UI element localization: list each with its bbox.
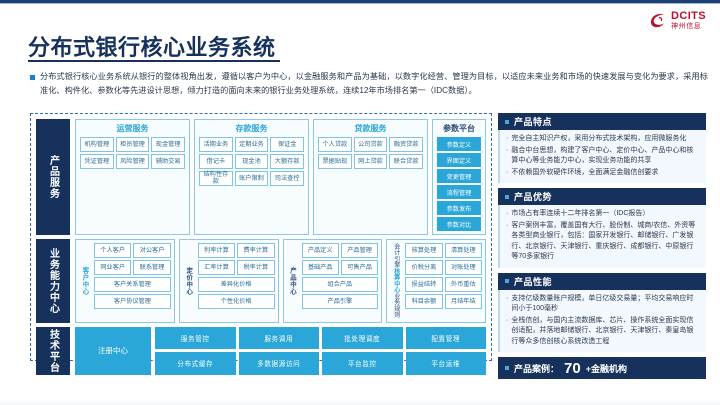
section-product-features: 产品特点 ·完全自主知识产权，采用分布式技术架构，应用微服务化 ·融合中台思想，… xyxy=(498,113,706,183)
intro-paragraph: 分布式银行核心业务系统从银行的整体视角出发，遵循以客户为中心，以金融服务和产品为… xyxy=(30,70,708,97)
service-cell[interactable]: 柜员管理 xyxy=(116,137,150,152)
tech-chip[interactable]: 批处理调度 xyxy=(322,327,403,350)
capability-center-accounting[interactable]: 会计引擎 核算中心 业务规则 核算处理 清算处理 价税分离 对账处理 损益结转 xyxy=(386,239,486,323)
capability-cell[interactable]: 个人客户 xyxy=(94,243,131,258)
param-chip[interactable]: 界面定义 xyxy=(437,153,481,167)
intro-text: 分布式银行核心业务系统从银行的整体视角出发，遵循以客户为中心，以金融服务和产品为… xyxy=(40,70,708,97)
page-title: 分布式银行核心业务系统 xyxy=(28,30,276,62)
brand-name: DCITS xyxy=(671,11,706,22)
tech-chip[interactable]: 平台运维 xyxy=(406,352,487,375)
square-bullet-icon xyxy=(30,75,35,80)
capability-cell[interactable]: 客户协议管理 xyxy=(94,294,171,309)
capability-center-label: 客户中心 xyxy=(79,243,91,319)
service-cell[interactable]: 凭证管理 xyxy=(80,154,114,169)
capability-cell[interactable]: 联系管理 xyxy=(133,260,170,275)
param-platform-column[interactable]: 参数平台 参数定义 界面定义 变更管理 流程管理 参数发布 参数对比 xyxy=(432,119,486,235)
section-header: 产品优势 xyxy=(498,188,706,205)
capability-cell[interactable]: 基础产品 xyxy=(302,260,339,275)
band-product-services: 产品服务 运营服务 机构管理 柜员管理 现金管理 凭证管理 风险管理 辅助交易 … xyxy=(36,119,486,235)
section-body: ·完全自主知识产权，采用分布式技术架构，应用微服务化 ·融合中台思想，构建了客户… xyxy=(498,130,706,183)
brand-subname: 神州信息 xyxy=(671,23,706,30)
section-title: 产品优势 xyxy=(514,190,552,203)
service-cell[interactable]: 公司贷款 xyxy=(354,137,388,152)
list-item: ·全栈信创，与国内主流数据库、芯片、操作系统全面实现信创适配，并落地邮储银行、北… xyxy=(506,316,699,348)
capability-cell[interactable]: 产品管理 xyxy=(341,243,378,258)
service-cell[interactable]: 借记卡 xyxy=(199,154,233,169)
service-cell[interactable]: 风险管理 xyxy=(116,154,150,169)
service-group-operations[interactable]: 运营服务 机构管理 柜员管理 现金管理 凭证管理 风险管理 辅助交易 xyxy=(75,119,190,235)
capability-cell[interactable]: 损益结转 xyxy=(405,277,442,292)
capability-cell[interactable]: 对公客户 xyxy=(133,243,170,258)
section-title: 产品性能 xyxy=(514,275,552,288)
param-chip[interactable]: 参数发布 xyxy=(437,201,481,215)
capability-cell[interactable]: 客户关系管理 xyxy=(94,277,171,292)
section-product-cases: 产品案例： 70 +金融机构 xyxy=(498,357,706,379)
service-cell[interactable]: 定期业务 xyxy=(235,137,269,152)
param-chip[interactable]: 流程管理 xyxy=(437,185,481,199)
service-group-deposit[interactable]: 存款服务 活期业务 定期业务 保证金 借记卡 现金池 大额存款 结构性存款 账户… xyxy=(194,119,309,235)
capability-center-label: 定价中心 xyxy=(183,243,195,319)
service-cell[interactable]: 个人贷款 xyxy=(318,137,352,152)
section-body: ·支持亿级数量账户规模，单日亿级交易量；平均交易响应时间小于100毫秒 ·全栈信… xyxy=(498,290,706,353)
capability-center-pricing[interactable]: 定价中心 利率计算 费率计算 汇率计算 税率计算 差异化价格 个性化价格 xyxy=(179,239,279,323)
square-bullet-icon xyxy=(505,195,509,199)
capability-center-product[interactable]: 产品中心 产品定义 产品管理 基础产品 可售产品 组合产品 产品引擎 xyxy=(283,239,383,323)
tech-chip[interactable]: 分布式缓存 xyxy=(155,352,236,375)
accounting-side-labels: 会计引擎 核算中心 业务规则 xyxy=(390,243,402,319)
dot-bullet-icon: · xyxy=(506,209,508,220)
capability-center-label: 核算中心 xyxy=(392,268,401,293)
band-tech-platform: 技术平台 注册中心 服务管控 服务调用 批处理调度 配置管理 分布式缓存 多数据… xyxy=(36,327,486,375)
capability-cell[interactable]: 月结年结 xyxy=(445,294,482,309)
param-chip[interactable]: 变更管理 xyxy=(437,169,481,183)
info-panel: 产品特点 ·完全自主知识产权，采用分布式技术架构，应用微服务化 ·融合中台思想，… xyxy=(498,113,706,379)
capability-cell[interactable]: 个性化价格 xyxy=(198,294,275,309)
service-cell[interactable]: 结构性存款 xyxy=(199,171,233,186)
service-cell[interactable]: 网上贷款 xyxy=(354,154,388,169)
list-item-text: 市场占有率连续十二年排名第一（IDC报告） xyxy=(511,209,649,220)
case-label: 产品案例： xyxy=(514,362,559,375)
section-body: ·市场占有率连续十二年排名第一（IDC报告） ·客户案例丰富，覆盖国有大行、股份… xyxy=(498,205,706,268)
section-product-advantages: 产品优势 ·市场占有率连续十二年排名第一（IDC报告） ·客户案例丰富，覆盖国有… xyxy=(498,188,706,268)
bottom-fade xyxy=(0,399,720,405)
capability-cell[interactable]: 对账处理 xyxy=(445,260,482,275)
capability-cell[interactable]: 产品引擎 xyxy=(302,294,379,309)
top-accent-bar-secondary xyxy=(0,3,720,4)
dot-bullet-icon: · xyxy=(506,134,508,145)
tech-chip[interactable]: 配置管理 xyxy=(406,327,487,350)
list-item: ·客户案例丰富，覆盖国有大行、股份制、城商/农信、外资等各类型商业银行，包括：国… xyxy=(506,221,699,263)
list-item-text: 融合中台思想，构建了客户中心、定价中心、产品中心和核算中心等业务能力中心，实现业… xyxy=(511,146,699,167)
dot-bullet-icon: · xyxy=(506,294,508,315)
service-group-title: 存款服务 xyxy=(199,123,304,134)
section-header: 产品特点 xyxy=(498,113,706,130)
service-group-title: 运营服务 xyxy=(80,123,185,134)
swirl-logo-icon xyxy=(648,10,668,30)
dot-bullet-icon: · xyxy=(506,168,508,179)
tech-chip[interactable]: 多数据源访问 xyxy=(239,352,320,375)
accounting-label-rules: 业务规则 xyxy=(392,293,401,318)
capability-cell[interactable]: 汇率计算 xyxy=(198,260,235,275)
band-label-product-services: 产品服务 xyxy=(36,119,70,235)
section-title: 产品特点 xyxy=(514,115,552,128)
capability-cell[interactable]: 组合产品 xyxy=(302,277,379,292)
param-chip[interactable]: 参数对比 xyxy=(437,217,481,231)
brand-logo: DCITS 神州信息 xyxy=(648,10,706,30)
capability-cell[interactable]: 核算处理 xyxy=(405,243,442,258)
capability-cell[interactable]: 利率计算 xyxy=(198,243,235,258)
list-item: ·融合中台思想，构建了客户中心、定价中心、产品中心和核算中心等业务能力中心，实现… xyxy=(506,146,699,167)
capability-cell[interactable]: 税率计算 xyxy=(237,260,274,275)
service-cell[interactable]: 现金池 xyxy=(235,154,269,169)
service-cell[interactable]: 机构管理 xyxy=(80,137,114,152)
param-platform-title: 参数平台 xyxy=(437,123,481,134)
capability-cell[interactable]: 同业客户 xyxy=(94,260,131,275)
band-capability-centers: 业务能力中心 客户中心 个人客户 对公客户 同业客户 联系管理 客户关系管理 客… xyxy=(36,239,486,323)
capability-center-customer[interactable]: 客户中心 个人客户 对公客户 同业客户 联系管理 客户关系管理 客户协议管理 xyxy=(75,239,175,323)
capability-cell[interactable]: 科目余额 xyxy=(405,294,442,309)
service-cell[interactable]: 票据贴现 xyxy=(318,154,352,169)
tech-chip[interactable]: 平台监控 xyxy=(322,352,403,375)
service-cell[interactable]: 司法查控 xyxy=(270,171,304,186)
square-bullet-icon xyxy=(505,279,509,283)
section-product-performance: 产品性能 ·支持亿级数量账户规模，单日亿级交易量；平均交易响应时间小于100毫秒… xyxy=(498,273,706,353)
service-cell[interactable]: 辅助交易 xyxy=(151,154,185,169)
service-cell[interactable]: 大额存款 xyxy=(270,154,304,169)
list-item: ·支持亿级数量账户规模，单日亿级交易量；平均交易响应时间小于100毫秒 xyxy=(506,294,699,315)
service-cell[interactable]: 保证金 xyxy=(270,137,304,152)
band-label-tech-platform: 技术平台 xyxy=(36,327,70,375)
capability-cell[interactable]: 可售产品 xyxy=(341,260,378,275)
accounting-label-engine: 会计引擎 xyxy=(392,243,401,268)
case-count: 70 xyxy=(564,360,581,377)
service-group-loan[interactable]: 贷款服务 个人贷款 公司贷款 融资贷款 票据贴现 网上贷款 联合贷款 xyxy=(313,119,428,235)
band-label-capability-centers: 业务能力中心 xyxy=(36,239,70,323)
service-cell[interactable]: 联合贷款 xyxy=(389,154,423,169)
dot-bullet-icon: · xyxy=(506,146,508,167)
list-item: ·完全自主知识产权，采用分布式技术架构，应用微服务化 xyxy=(506,134,699,145)
dot-bullet-icon: · xyxy=(506,316,508,348)
capability-cell[interactable]: 差异化价格 xyxy=(198,277,275,292)
list-item-text: 不依赖国外软硬件环境，全面满足金融信创要求 xyxy=(511,168,658,179)
service-group-title: 贷款服务 xyxy=(318,123,423,134)
service-cell[interactable]: 活期业务 xyxy=(199,137,233,152)
tech-register-center[interactable]: 注册中心 xyxy=(75,327,151,375)
square-bullet-icon xyxy=(505,120,509,124)
service-cell[interactable]: 现金管理 xyxy=(151,137,185,152)
architecture-diagram: 产品服务 运营服务 机构管理 柜员管理 现金管理 凭证管理 风险管理 辅助交易 … xyxy=(30,113,492,361)
list-item-text: 全栈信创，与国内主流数据库、芯片、操作系统全面实现信创适配，并落地邮储银行、北京… xyxy=(511,316,699,348)
capability-cell[interactable]: 产品定义 xyxy=(302,243,339,258)
list-item-text: 客户案例丰富，覆盖国有大行、股份制、城商/农信、外资等各类型商业银行，包括：国家… xyxy=(511,221,699,263)
list-item-text: 支持亿级数量账户规模，单日亿级交易量；平均交易响应时间小于100毫秒 xyxy=(511,294,699,315)
dot-bullet-icon: · xyxy=(506,221,508,263)
title-underline xyxy=(28,60,280,62)
list-item: ·市场占有率连续十二年排名第一（IDC报告） xyxy=(506,209,699,220)
tech-chip[interactable]: 服务管控 xyxy=(155,327,236,350)
service-cell[interactable]: 融资贷款 xyxy=(389,137,423,152)
section-header: 产品性能 xyxy=(498,273,706,290)
case-unit: +金融机构 xyxy=(586,362,627,375)
param-chip[interactable]: 参数定义 xyxy=(437,137,481,151)
capability-cell[interactable]: 费率计算 xyxy=(237,243,274,258)
list-item-text: 完全自主知识产权，采用分布式技术架构，应用微服务化 xyxy=(511,134,686,145)
capability-cell[interactable]: 清算处理 xyxy=(445,243,482,258)
capability-center-label: 产品中心 xyxy=(287,243,299,319)
list-item: ·不依赖国外软硬件环境，全面满足金融信创要求 xyxy=(506,168,699,179)
square-bullet-icon xyxy=(505,366,509,370)
capability-cell[interactable]: 外币重估 xyxy=(445,277,482,292)
capability-cell[interactable]: 价税分离 xyxy=(405,260,442,275)
service-cell[interactable]: 账户限制 xyxy=(235,171,269,186)
tech-chip[interactable]: 服务调用 xyxy=(239,327,320,350)
